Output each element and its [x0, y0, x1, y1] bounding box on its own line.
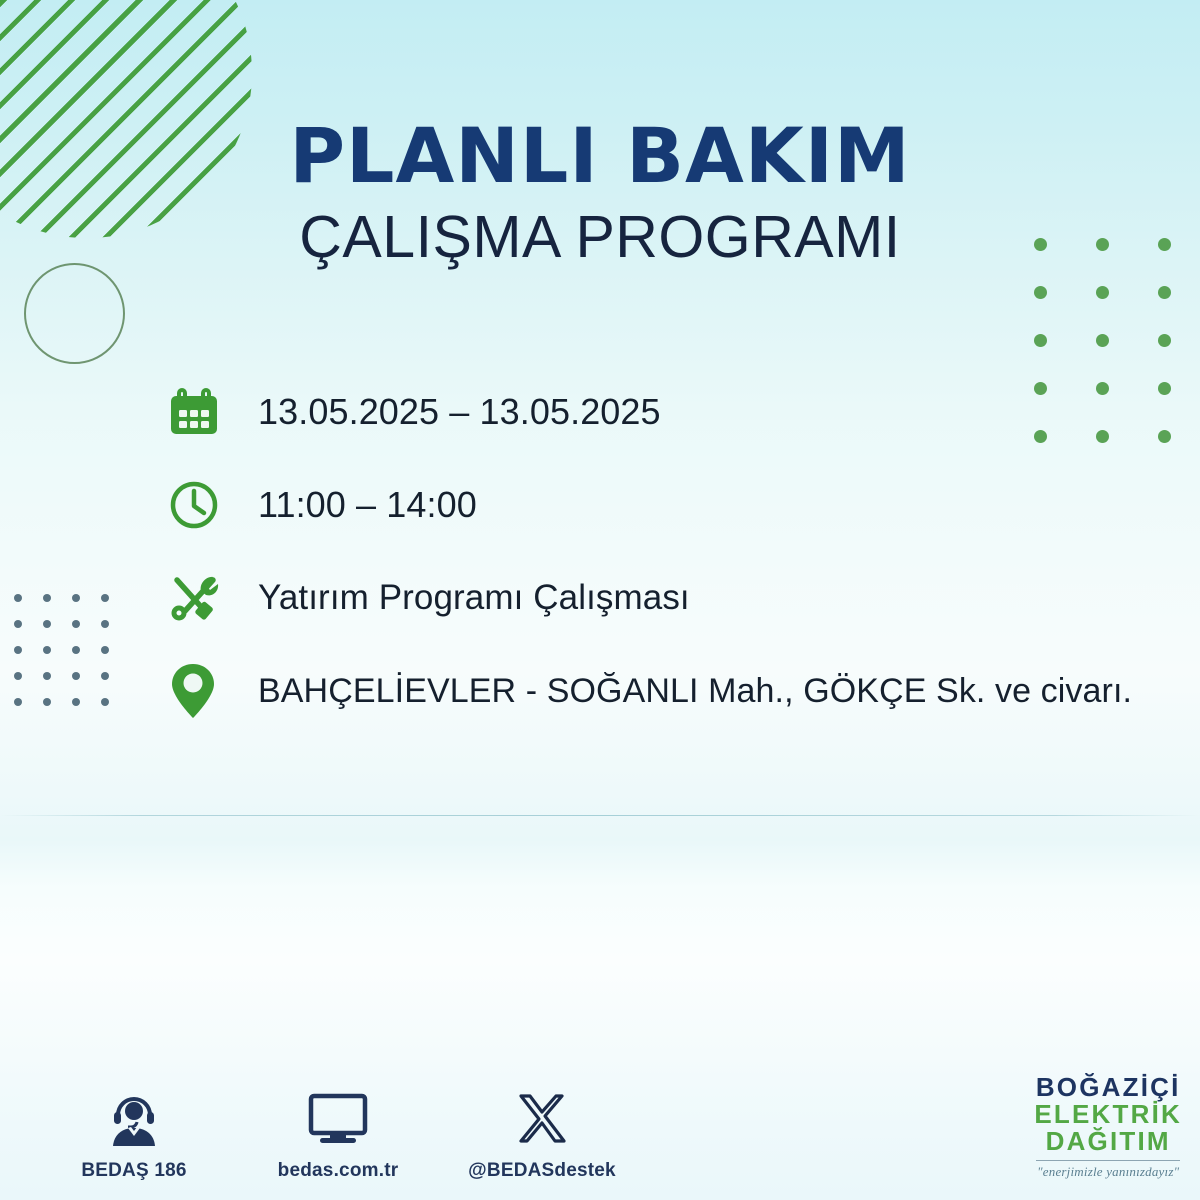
dot — [43, 672, 51, 680]
tools-icon — [168, 567, 230, 629]
dot — [101, 646, 109, 654]
poster-footer: BEDAŞ 186 bedas.com.tr — [0, 1035, 1200, 1200]
dot — [14, 698, 22, 706]
brand-line-elektrik: ELEKTRİK — [1034, 1101, 1182, 1128]
contact-website-label: bedas.com.tr — [278, 1160, 399, 1182]
location-text: BAHÇELİEVLER - SOĞANLI Mah., GÖKÇE Sk. v… — [230, 672, 1132, 711]
work-type-text: Yatırım Programı Çalışması — [230, 578, 690, 618]
brand-line-dagitim: DAĞITIM — [1034, 1128, 1182, 1155]
x-twitter-icon — [515, 1085, 569, 1147]
dot — [72, 672, 80, 680]
dot — [72, 594, 80, 602]
dot — [43, 620, 51, 628]
dot — [101, 620, 109, 628]
dot — [1096, 334, 1109, 347]
contact-channels: BEDAŞ 186 bedas.com.tr — [60, 1085, 616, 1182]
date-range-text: 13.05.2025 – 13.05.2025 — [230, 391, 661, 433]
dot — [101, 698, 109, 706]
horizontal-seam-decoration — [0, 815, 1200, 816]
info-row-location: BAHÇELİEVLER - SOĞANLI Mah., GÖKÇE Sk. v… — [168, 655, 1168, 727]
dot-grid-left-decoration — [14, 594, 130, 724]
circle-outline-decoration — [24, 263, 125, 364]
contact-x-label: @BEDASdestek — [468, 1160, 616, 1182]
brand-divider — [1036, 1160, 1180, 1161]
clock-icon — [168, 474, 230, 536]
monitor-icon — [307, 1085, 369, 1147]
dot — [1034, 286, 1047, 299]
dot — [1096, 286, 1109, 299]
brand-line-bogazici: BOĞAZİÇİ — [1034, 1074, 1182, 1101]
info-row-work-type: Yatırım Programı Çalışması — [168, 562, 1168, 634]
dot — [72, 698, 80, 706]
contact-website[interactable]: bedas.com.tr — [264, 1085, 412, 1182]
page-title: PLANLI BAKIM — [0, 118, 1200, 194]
page-subtitle: ÇALIŞMA PROGRAMI — [0, 208, 1200, 267]
dot — [1158, 334, 1171, 347]
headset-operator-icon — [107, 1085, 161, 1147]
dot — [43, 646, 51, 654]
dot — [1034, 334, 1047, 347]
dot — [14, 620, 22, 628]
dot — [43, 698, 51, 706]
dot — [14, 594, 22, 602]
dot — [1158, 286, 1171, 299]
brand-tagline: "enerjimizle yanınızdayız" — [1034, 1165, 1182, 1178]
dot — [14, 672, 22, 680]
dot — [72, 646, 80, 654]
dot — [14, 646, 22, 654]
dot — [101, 594, 109, 602]
dot — [72, 620, 80, 628]
time-range-text: 11:00 – 14:00 — [230, 484, 477, 526]
maintenance-info-list: 13.05.2025 – 13.05.2025 11:00 – 14:00 — [168, 376, 1168, 727]
calendar-icon — [168, 381, 230, 443]
contact-phone-label: BEDAŞ 186 — [81, 1160, 186, 1182]
dot — [43, 594, 51, 602]
location-pin-icon — [168, 660, 230, 722]
brand-logo: BOĞAZİÇİ ELEKTRİK DAĞITIM "enerjimizle y… — [1034, 1074, 1182, 1178]
contact-x-social[interactable]: @BEDASdestek — [468, 1085, 616, 1182]
info-row-time: 11:00 – 14:00 — [168, 469, 1168, 541]
contact-phone[interactable]: BEDAŞ 186 — [60, 1085, 208, 1182]
poster-canvas: PLANLI BAKIM ÇALIŞMA PROGRAMI 13.05.2025… — [0, 0, 1200, 1200]
dot — [101, 672, 109, 680]
info-row-date: 13.05.2025 – 13.05.2025 — [168, 376, 1168, 448]
poster-header: PLANLI BAKIM ÇALIŞMA PROGRAMI — [0, 118, 1200, 267]
